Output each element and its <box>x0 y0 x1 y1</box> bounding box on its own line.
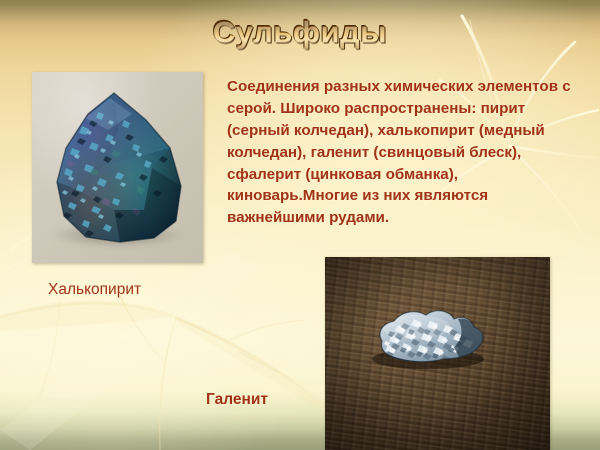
image-galena <box>325 257 550 450</box>
chalcopyrite-specimen <box>48 90 188 247</box>
caption-chalcopyrite: Халькопирит <box>48 281 141 299</box>
slide-title: Сульфиды <box>0 14 600 50</box>
presentation-slide: Сульфиды Сульфиды Соединения разных хими… <box>0 0 600 450</box>
caption-galena: Галенит <box>206 391 268 409</box>
image-chalcopyrite <box>32 72 203 263</box>
slide-body-text: Соединения разных химических элементов с… <box>227 76 587 229</box>
galena-specimen <box>358 301 488 369</box>
